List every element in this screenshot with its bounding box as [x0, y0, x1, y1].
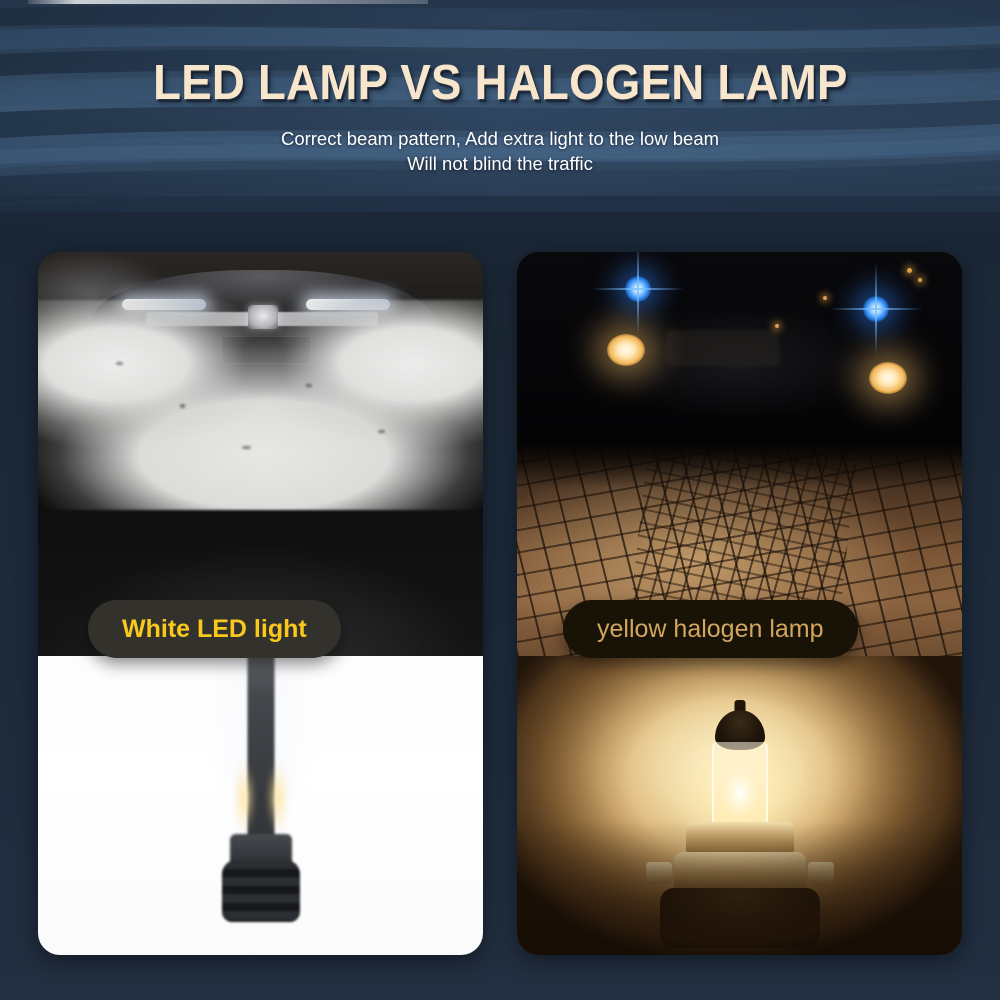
label-white-led-light[interactable]: White LED light [88, 600, 341, 658]
halogen-night-scene-photo [517, 252, 962, 656]
asphalt-speck [306, 384, 312, 387]
asphalt-speck [180, 404, 185, 408]
halogen-headlight-right [869, 362, 907, 394]
led-bulb-base [222, 860, 300, 922]
subtitle-line-2: Will not blind the traffic [281, 152, 719, 177]
license-plate-dim [667, 330, 779, 366]
blue-accent-light-right [863, 296, 889, 322]
page-header: LED LAMP VS HALOGEN LAMP Correct beam pa… [0, 0, 1000, 228]
panel-led[interactable]: White LED light [38, 252, 483, 955]
led-beam-pattern [38, 300, 483, 510]
led-bulb-chip [235, 760, 287, 836]
blue-accent-light-left [625, 276, 651, 302]
distant-light-speck [775, 324, 779, 328]
distant-light-speck [918, 278, 922, 282]
label-yellow-halogen-lamp[interactable]: yellow halogen lamp [563, 600, 858, 658]
asphalt-speck [116, 362, 123, 365]
led-bulb-photo [38, 656, 483, 955]
distant-light-speck [823, 296, 827, 300]
page-subtitle: Correct beam pattern, Add extra light to… [281, 127, 719, 177]
halogen-headlight-left [607, 334, 645, 366]
pavement-upper-shadow [517, 440, 962, 488]
subtitle-line-1: Correct beam pattern, Add extra light to… [281, 127, 719, 152]
distant-light-speck [907, 268, 912, 273]
header-top-accent-strip [28, 0, 428, 4]
panel-halogen[interactable]: yellow halogen lamp [517, 252, 962, 955]
asphalt-speck [242, 446, 251, 449]
comparison-panels: White LED light [38, 252, 962, 955]
led-night-scene-photo [38, 252, 483, 656]
asphalt-speck [378, 430, 385, 433]
page-title: LED LAMP VS HALOGEN LAMP [153, 58, 848, 109]
halogen-bulb-photo [517, 656, 962, 955]
comparison-stage: White LED light [0, 228, 1000, 1000]
halogen-photo-vignette [517, 656, 962, 955]
